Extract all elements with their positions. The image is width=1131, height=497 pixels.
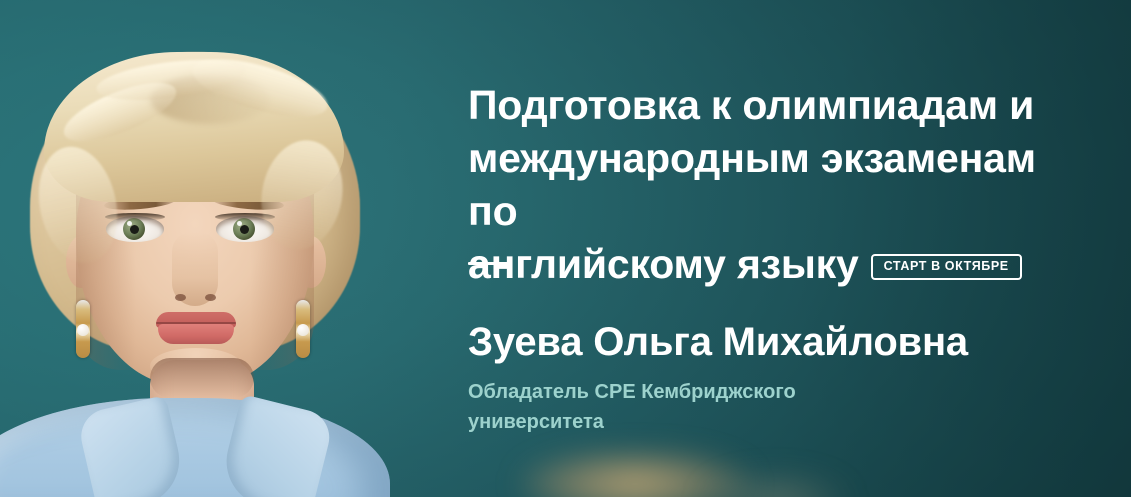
neck-shadow <box>150 358 254 398</box>
person-name: Зуева Ольга Михайловна <box>468 320 968 364</box>
hero-banner: Подготовка к олимпиадам и международным … <box>0 0 1131 497</box>
pupil-left <box>130 225 139 234</box>
pupil-right <box>240 225 249 234</box>
lip-line <box>156 322 236 324</box>
earring-pearl-left <box>77 324 89 336</box>
hero-content: Подготовка к олимпиадам и международным … <box>468 0 1088 497</box>
divider <box>468 262 510 265</box>
eye-glint-left <box>127 221 132 226</box>
page-title: Подготовка к олимпиадам и международным … <box>468 79 1078 291</box>
earring-left <box>76 300 90 358</box>
blouse-shoulders <box>0 398 390 497</box>
nostril-right <box>205 294 216 301</box>
iris-left <box>123 218 145 240</box>
earring-pearl-right <box>297 324 309 336</box>
status-badge: СТАРТ В ОКТЯБРЕ <box>871 254 1022 280</box>
earring-right <box>296 300 310 358</box>
person-role: Обладатель CPE Кембриджского университет… <box>468 377 888 437</box>
nostril-left <box>175 294 186 301</box>
portrait-photo <box>0 0 420 497</box>
lip-lower <box>158 324 234 344</box>
eye-glint-right <box>237 221 242 226</box>
iris-right <box>233 218 255 240</box>
